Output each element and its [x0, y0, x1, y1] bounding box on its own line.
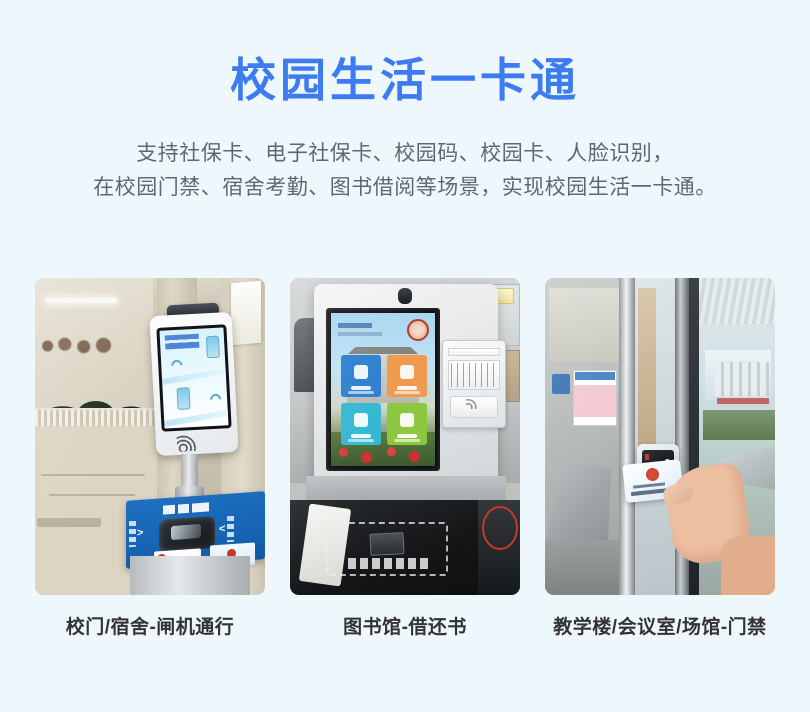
kiosk-tile-search-sublabel	[348, 439, 374, 442]
turnstile-scanner-glint	[171, 524, 201, 540]
kiosk-screen-subtitle	[338, 332, 382, 336]
gate-railing	[35, 408, 157, 426]
scenario-card-row: > < 校门/宿舍-闸机通行	[35, 278, 775, 639]
turnstile-right-arrow-icon: <	[219, 523, 225, 535]
terminal-phone-icon-2	[176, 387, 190, 410]
scenario-card-gate[interactable]: > < 校门/宿舍-闸机通行	[35, 278, 265, 639]
scenario-caption-gate: 校门/宿舍-闸机通行	[35, 612, 265, 639]
wall-poster-header	[575, 372, 615, 380]
scenario-caption-access: 教学楼/会议室/场馆-门禁	[545, 612, 775, 639]
turnstile-right-vertical-text	[227, 516, 234, 542]
page-title: 校园生活一卡通	[0, 52, 810, 110]
user-wrist	[721, 536, 775, 595]
door-wood-reflection	[638, 288, 656, 448]
scenario-card-library[interactable]: 图书馆-借还书	[290, 278, 520, 639]
search-icon	[354, 413, 368, 427]
gate-floor-seam-1	[41, 474, 145, 476]
page-subtitle: 支持社保卡、电子社保卡、校园码、校园卡、人脸识别， 在校园门禁、宿舍考勤、图书借…	[0, 137, 810, 205]
scenario-card-access[interactable]: 教学楼/会议室/场馆-门禁	[545, 278, 775, 639]
outdoor-building	[715, 362, 769, 396]
terminal-screen-band-2	[164, 409, 232, 427]
scenario-caption-library: 图书馆-借还书	[290, 612, 520, 639]
kiosk-tile-return[interactable]	[387, 355, 427, 397]
door-frame-left	[619, 278, 635, 595]
gate-wall-notice	[231, 281, 261, 346]
deck-highlight-circle	[482, 506, 518, 550]
kiosk-tile-account[interactable]	[387, 403, 427, 445]
kiosk-camera-icon	[398, 288, 412, 304]
turnstile-left-vertical-text	[129, 521, 136, 547]
turnstile-left-arrow-icon: >	[137, 527, 143, 539]
page-root: 校园生活一卡通 支持社保卡、电子社保卡、校园码、校园卡、人脸识别， 在校园门禁、…	[0, 0, 810, 712]
terminal-screen	[156, 324, 231, 432]
return-icon	[400, 365, 414, 379]
deck-zone-label	[348, 558, 428, 569]
kiosk-panel-text-lines	[451, 363, 497, 387]
book-icon	[354, 365, 368, 379]
indoor-floor	[545, 540, 627, 595]
kiosk-tile-search[interactable]	[341, 403, 381, 445]
gate-ceiling-light	[45, 298, 117, 303]
reader-status-led-icon	[645, 454, 649, 460]
page-header: 校园生活一卡通 支持社保卡、电子社保卡、校园码、校园卡、人脸识别， 在校园门禁、…	[0, 0, 810, 205]
kiosk-tile-account-sublabel	[394, 439, 420, 442]
terminal-screen-heading	[165, 334, 200, 350]
kiosk-touchscreen[interactable]	[331, 313, 435, 466]
gate-floor-seam-3	[37, 518, 101, 527]
subtitle-line-1: 支持社保卡、电子社保卡、校园码、校园卡、人脸识别，	[0, 137, 810, 171]
outdoor-red-banner	[717, 398, 769, 404]
terminal-wifi-wave-icon-2	[208, 392, 224, 408]
kiosk-tile-return-sublabel	[394, 391, 420, 394]
book-icon	[369, 532, 404, 556]
kiosk-school-emblem-icon	[407, 319, 429, 341]
account-icon	[400, 413, 414, 427]
outdoor-greenery	[703, 410, 775, 440]
terminal-wifi-wave-icon-1	[169, 358, 185, 374]
exit-sign-icon	[552, 374, 570, 394]
kiosk-tile-borrow-sublabel	[348, 391, 374, 394]
turnstile-pedestal	[130, 556, 250, 595]
photo-library-kiosk	[290, 278, 520, 595]
indoor-wall-panel	[549, 288, 619, 362]
kiosk-screen-title	[338, 323, 372, 328]
kiosk-panel-heading	[448, 348, 500, 356]
subtitle-line-2: 在校园门禁、宿舍考勤、图书借阅等场景，实现校园生活一卡通。	[0, 171, 810, 205]
outdoor-canopy	[699, 278, 775, 324]
photo-door-access	[545, 278, 775, 595]
nfc-wave-icon	[466, 399, 480, 409]
gate-floor-seam-2	[49, 494, 135, 496]
photo-gate-turnstile: > <	[35, 278, 265, 595]
kiosk-tile-borrow[interactable]	[341, 355, 381, 397]
nfc-wave-icon	[177, 434, 208, 452]
terminal-phone-icon-1	[206, 336, 220, 359]
gate-wall-calligraphy	[39, 328, 125, 364]
